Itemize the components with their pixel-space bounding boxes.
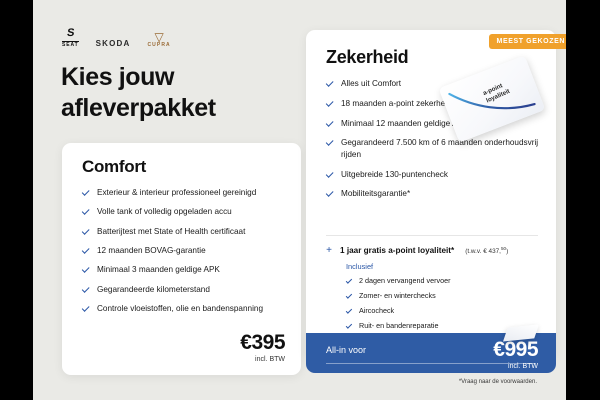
seat-logo: S SEAT: [62, 28, 79, 48]
cupra-logo: ▽ CUPRA: [147, 32, 170, 48]
loyalty-headline-row: + 1 jaar gratis a-point loyaliteit* (t.w…: [325, 246, 542, 255]
check-icon: [82, 246, 90, 254]
feature-text: Exterieur & interieur professioneel gere…: [97, 187, 256, 198]
feature-text: Aircocheck: [359, 306, 394, 315]
feature-text: Minimaal 3 maanden geldige APK: [97, 264, 220, 275]
check-icon: [326, 119, 334, 127]
check-icon: [326, 170, 334, 178]
feature-text: Mobiliteitsgarantie*: [341, 188, 410, 199]
loyalty-included-block: Inclusief 2 dagen vervangend vervoer Zom…: [346, 262, 451, 335]
page-title: Kies jouw afleverpakket: [61, 62, 311, 123]
check-icon: [326, 138, 334, 146]
list-item: Aircocheck: [346, 306, 451, 315]
price-rule: [326, 363, 536, 364]
list-item: Minimaal 3 maanden geldige APK: [82, 264, 287, 275]
cupra-emblem-icon: ▽: [154, 32, 163, 42]
status-badge: MEEST GEKOZEN: [489, 34, 566, 49]
allin-label: All-in voor: [326, 345, 366, 355]
list-item: Mobiliteitsgarantie*: [326, 188, 542, 199]
list-item: Gegarandeerd 7.500 km of 6 maanden onder…: [326, 137, 542, 160]
comfort-price-block: €395 incl. BTW: [240, 332, 285, 363]
package-card-comfort[interactable]: Comfort Exterieur & interieur profession…: [62, 143, 301, 375]
skoda-wordmark: SKODA: [96, 40, 131, 48]
list-item: Volle tank of volledig opgeladen accu: [82, 206, 287, 217]
promo-canvas: S SEAT SKODA ▽ CUPRA Kies jouw afleverpa…: [33, 0, 566, 400]
check-icon: [82, 207, 90, 215]
list-item: 12 maanden BOVAG-garantie: [82, 245, 287, 256]
check-icon: [82, 227, 90, 235]
list-item: Zomer- en winterchecks: [346, 291, 451, 300]
list-item: Ruit- en bandenreparatie: [346, 321, 451, 330]
zekerheid-price: €995: [493, 339, 538, 360]
plus-icon: +: [325, 247, 333, 255]
footnote: *Vraag naar de voorwaarden.: [459, 379, 537, 385]
list-item: Batterijtest met State of Health certifi…: [82, 226, 287, 237]
feature-text: Volle tank of volledig opgeladen accu: [97, 206, 232, 217]
package-card-zekerheid[interactable]: MEEST GEKOZEN Zekerheid Alles uit Comfor…: [306, 30, 556, 360]
list-item: Gegarandeerde kilometerstand: [82, 284, 287, 295]
seat-emblem-icon: S: [66, 28, 74, 39]
check-icon: [326, 189, 334, 197]
list-item: 2 dagen vervangend vervoer: [346, 276, 451, 285]
loyalty-title: 1 jaar gratis a-point loyaliteit*: [340, 246, 454, 255]
feature-text: Uitgebreide 130-puntencheck: [341, 169, 448, 180]
feature-text: Alles uit Comfort: [341, 78, 401, 89]
skoda-logo: SKODA: [96, 40, 131, 48]
brand-logo-row: S SEAT SKODA ▽ CUPRA: [62, 28, 171, 48]
zekerheid-price-note: incl. BTW: [493, 363, 538, 370]
feature-text: Zomer- en winterchecks: [359, 291, 436, 300]
feature-text: Gegarandeerd 7.500 km of 6 maanden onder…: [341, 137, 542, 160]
zekerheid-title: Zekerheid: [326, 47, 408, 68]
feature-text: Minimaal 12 maanden geldige APK: [341, 118, 468, 129]
seat-wordmark: SEAT: [62, 41, 79, 48]
section-divider: [326, 235, 538, 236]
comfort-title: Comfort: [82, 157, 146, 177]
check-icon: [82, 265, 90, 273]
included-label: Inclusief: [346, 262, 451, 271]
feature-text: Batterijtest met State of Health certifi…: [97, 226, 245, 237]
loyalty-value-suffix: ): [506, 248, 508, 255]
feature-text: Controle vloeistoffen, olie en bandenspa…: [97, 303, 263, 314]
check-icon: [346, 277, 353, 284]
feature-text: 12 maanden BOVAG-garantie: [97, 245, 206, 256]
list-item: Exterieur & interieur professioneel gere…: [82, 187, 287, 198]
cupra-wordmark: CUPRA: [147, 43, 170, 48]
check-icon: [346, 307, 353, 314]
check-icon: [82, 188, 90, 196]
check-icon: [82, 285, 90, 293]
check-icon: [326, 79, 334, 87]
list-item: Controle vloeistoffen, olie en bandenspa…: [82, 303, 287, 314]
check-icon: [346, 322, 353, 329]
comfort-price-note: incl. BTW: [240, 356, 285, 363]
list-item: Uitgebreide 130-puntencheck: [326, 169, 542, 180]
zekerheid-price-block: €995 incl. BTW: [493, 339, 538, 370]
screenshot-stage: S SEAT SKODA ▽ CUPRA Kies jouw afleverpa…: [0, 0, 600, 400]
loyalty-value-prefix: (t.w.v. € 437,: [465, 248, 501, 255]
comfort-feature-list: Exterieur & interieur professioneel gere…: [82, 187, 287, 322]
comfort-price: €395: [240, 332, 285, 353]
check-icon: [82, 304, 90, 312]
loyalty-value-note: (t.w.v. € 437,50): [465, 246, 508, 255]
feature-text: Ruit- en bandenreparatie: [359, 321, 439, 330]
check-icon: [346, 292, 353, 299]
feature-text: 2 dagen vervangend vervoer: [359, 276, 451, 285]
feature-text: Gegarandeerde kilometerstand: [97, 284, 210, 295]
loyalty-included-list: 2 dagen vervangend vervoer Zomer- en win…: [346, 276, 451, 330]
check-icon: [326, 99, 334, 107]
